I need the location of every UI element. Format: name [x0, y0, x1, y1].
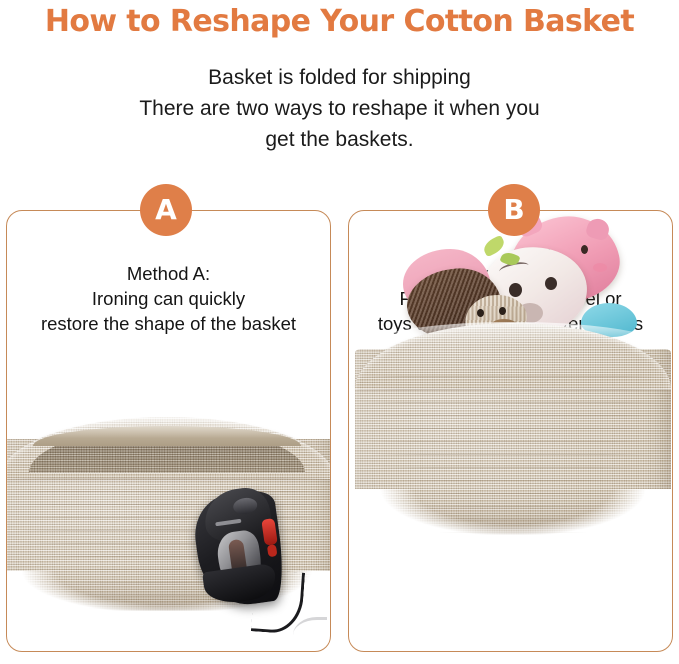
basket-a-rim-highlight [6, 416, 331, 442]
subtitle-line-2: There are two ways to reshape it when yo… [0, 93, 679, 124]
badge-b-letter: B [503, 193, 524, 226]
page-subtitle: Basket is folded for shipping There are … [0, 62, 679, 155]
method-b-photo [349, 211, 672, 651]
badge-a: A [140, 184, 192, 236]
pink-hippo-eye-right [581, 245, 588, 254]
badge-b: B [488, 184, 540, 236]
method-card-a: Method A: Ironing can quickly restore th… [6, 210, 331, 652]
page-title: How to Reshape Your Cotton Basket [0, 4, 679, 39]
pink-hippo-blush [593, 263, 607, 272]
method-a-photo [7, 211, 330, 651]
brown-monkey-eye-left [477, 309, 484, 317]
iron-red-accent-lower [267, 544, 278, 557]
brown-monkey-eye-right [499, 307, 506, 315]
badge-a-letter: A [155, 193, 177, 226]
iron-cord-tail [293, 617, 327, 643]
white-bear-eye-left [509, 283, 522, 297]
infographic-page: How to Reshape Your Cotton Basket Basket… [0, 0, 679, 664]
method-card-b: Method B: Fill the basket with towel or … [348, 210, 673, 652]
basket-b-coil-lines [355, 369, 671, 533]
subtitle-line-3: get the baskets. [0, 124, 679, 155]
subtitle-line-1: Basket is folded for shipping [0, 62, 679, 93]
white-bear-eye-right [545, 277, 557, 290]
